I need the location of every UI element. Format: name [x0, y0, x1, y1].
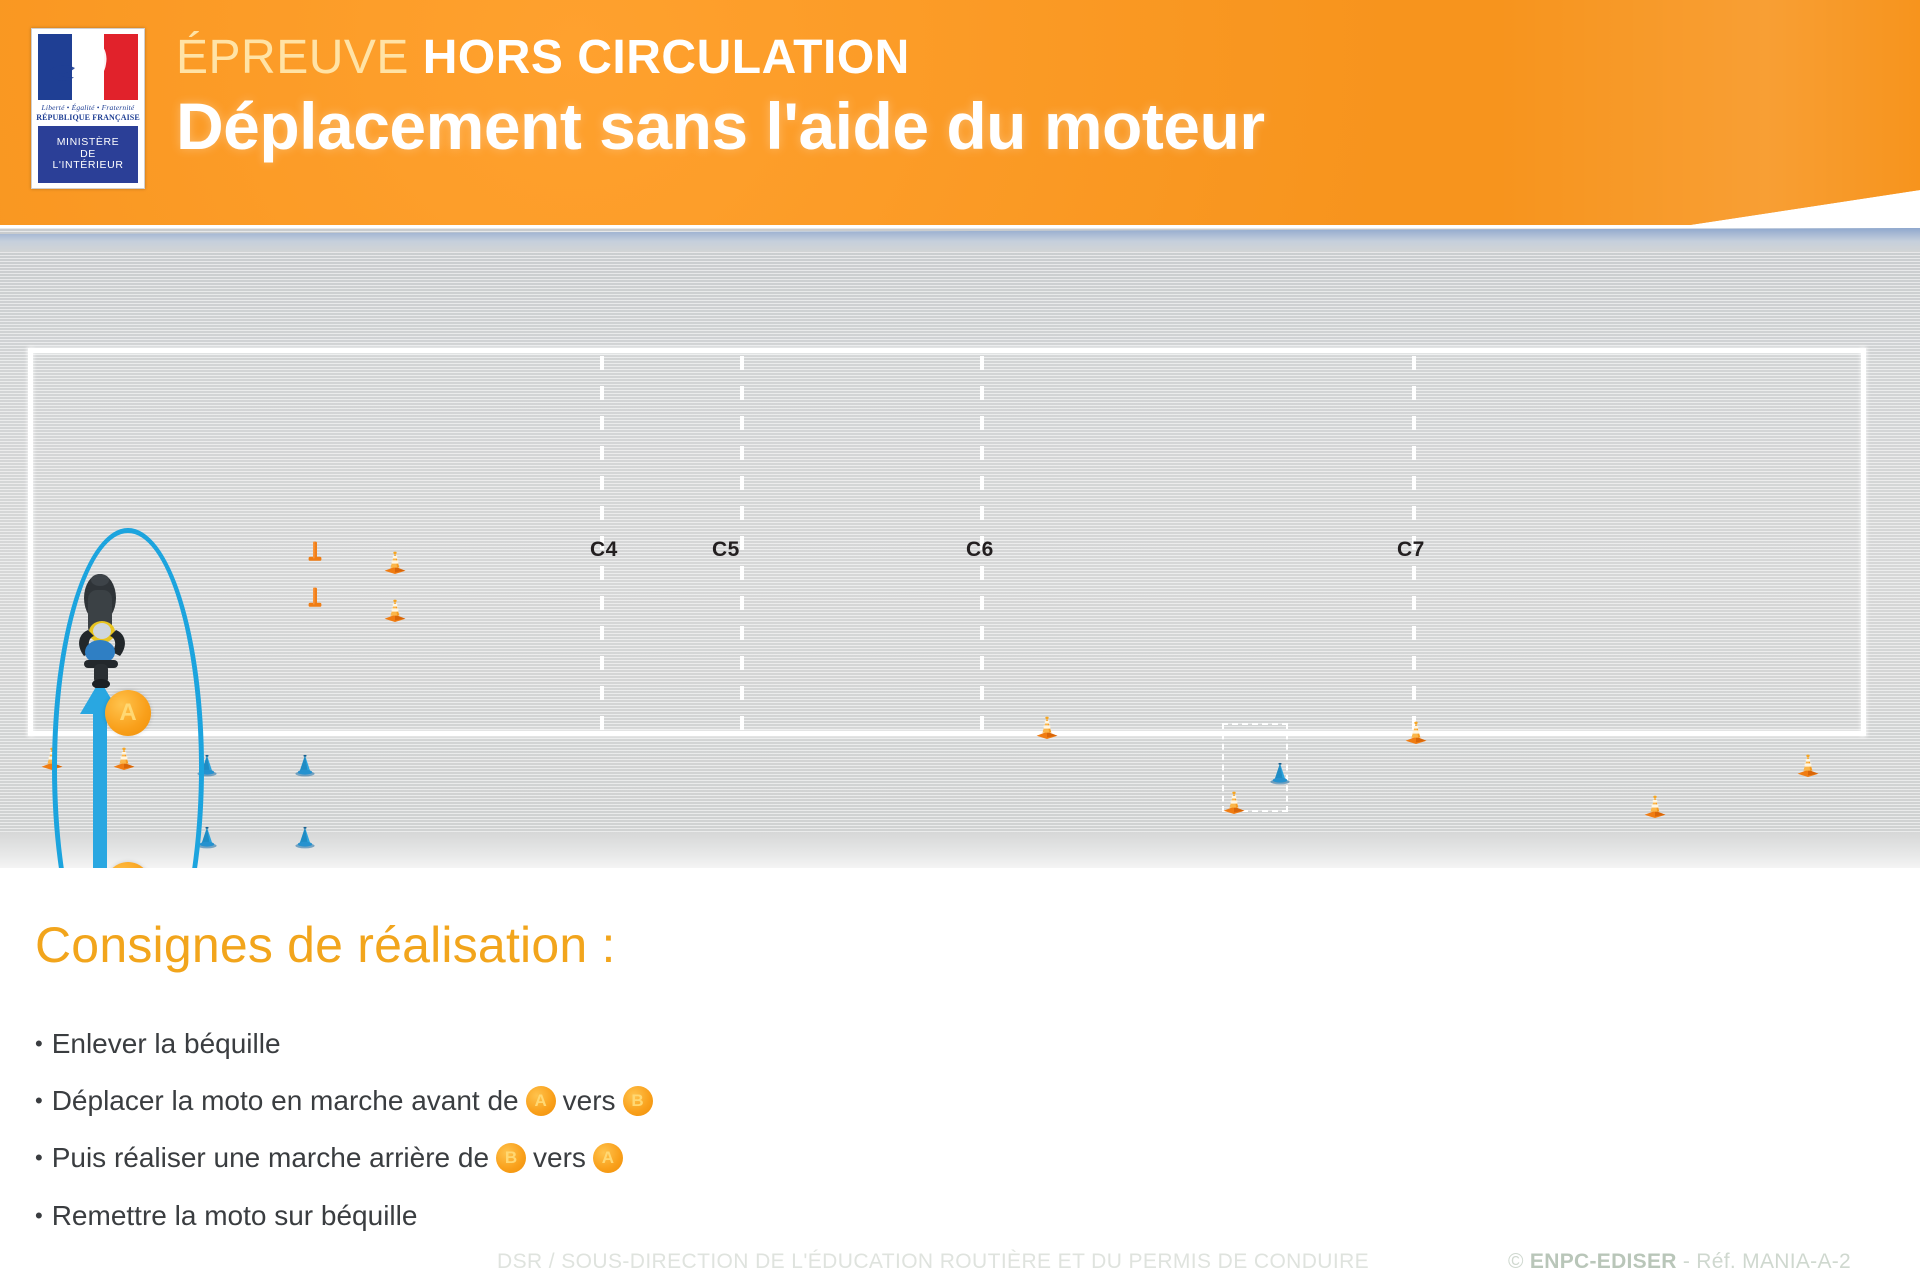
- logo-ministry-block: MINISTÈRE DE L'INTÉRIEUR: [38, 126, 138, 183]
- diagram-bottom-edge: [0, 832, 1920, 868]
- column-label-c6: C6: [966, 538, 994, 562]
- orange-cone-icon-13: [1035, 715, 1059, 739]
- instruction-text: Déplacer la moto en marche avant de: [52, 1085, 519, 1117]
- course-edge-top: [28, 348, 1866, 353]
- footer-reference: - Réf. MANIA-A-2: [1677, 1250, 1851, 1273]
- column-label-c4: C4: [590, 538, 618, 562]
- instruction-item-3: •Puis réaliser une marche arrière deB ve…: [35, 1142, 630, 1174]
- footer-copyright: © ENPC-EDISER - Réf. MANIA-A-2: [1508, 1250, 1851, 1274]
- page-title: Déplacement sans l'aide du moteur: [176, 92, 1265, 161]
- bullet-icon: •: [35, 1033, 43, 1055]
- column-label-c7: C7: [1397, 538, 1425, 562]
- logo-motto: Liberté • Égalité • Fraternité: [32, 103, 144, 112]
- instruction-item-4: •Remettre la moto sur béquille: [35, 1200, 417, 1232]
- header-eyebrow: ÉPREUVE HORS CIRCULATION: [176, 34, 910, 82]
- inline-marker-a: A: [593, 1143, 623, 1173]
- bullet-icon: •: [35, 1205, 43, 1227]
- course-dash-line-2: [740, 356, 744, 736]
- instruction-text: Puis réaliser une marche arrière de: [52, 1142, 489, 1174]
- blue-cone-icon-10: [293, 825, 317, 849]
- instructions-title: Consignes de réalisation :: [35, 916, 616, 974]
- instructions-section: Consignes de réalisation : •Enlever la b…: [0, 880, 1920, 1210]
- eyebrow-bold-text: HORS CIRCULATION: [423, 31, 910, 84]
- bullet-icon: •: [35, 1147, 43, 1169]
- marker-a: A: [105, 690, 151, 736]
- blue-cone-icon-15: [1268, 761, 1292, 785]
- eyebrow-light-text: ÉPREUVE: [176, 31, 409, 84]
- logo-republic-label: RÉPUBLIQUE FRANÇAISE: [32, 113, 144, 122]
- orange-cone-icon-5: [383, 550, 407, 574]
- column-label-c5: C5: [712, 538, 740, 562]
- motorcycle-icon: [58, 568, 146, 688]
- orange-cone-icon-17: [1643, 794, 1667, 818]
- instruction-text: vers: [563, 1085, 616, 1117]
- orange-cone-icon-6: [383, 598, 407, 622]
- footer-brand: ENPC-EDISER: [1530, 1250, 1677, 1273]
- orange-cone-icon-16: [1222, 790, 1246, 814]
- marianne-icon: [38, 34, 138, 100]
- page-header: Liberté • Égalité • Fraternité RÉPUBLIQU…: [0, 0, 1920, 232]
- inline-marker-b: B: [623, 1086, 653, 1116]
- footer-copyright-symbol: ©: [1508, 1250, 1530, 1273]
- blue-cone-icon-8: [293, 753, 317, 777]
- instruction-text: Enlever la béquille: [52, 1028, 281, 1060]
- bullet-icon: •: [35, 1090, 43, 1112]
- orange-cone-icon-14: [1404, 720, 1428, 744]
- inline-marker-a: A: [526, 1086, 556, 1116]
- footer-authority: DSR / SOUS-DIRECTION DE L'ÉDUCATION ROUT…: [497, 1250, 1369, 1274]
- instruction-item-1: •Enlever la béquille: [35, 1028, 281, 1060]
- logo-ministry-line-3: L'INTÉRIEUR: [52, 160, 123, 172]
- logo-ministry-line-1: MINISTÈRE: [57, 137, 120, 149]
- course-edge-left: [28, 348, 33, 736]
- course-edge-right: [1861, 348, 1866, 736]
- instruction-item-2: •Déplacer la moto en marche avant deA ve…: [35, 1085, 660, 1117]
- orange-cone-icon-18: [1796, 753, 1820, 777]
- exercise-diagram: C4C5C6C7 A B Échelle indicative Zone neu…: [0, 228, 1920, 868]
- inline-marker-b: B: [496, 1143, 526, 1173]
- instruction-text: vers: [533, 1142, 586, 1174]
- ministry-logo: Liberté • Égalité • Fraternité RÉPUBLIQU…: [31, 28, 145, 189]
- diagram-top-edge: [0, 228, 1920, 252]
- instruction-text: Remettre la moto sur béquille: [52, 1200, 418, 1232]
- marker-post-icon-3: [303, 540, 327, 564]
- course-edge-bottom: [28, 731, 1866, 736]
- marker-post-icon-4: [303, 586, 327, 610]
